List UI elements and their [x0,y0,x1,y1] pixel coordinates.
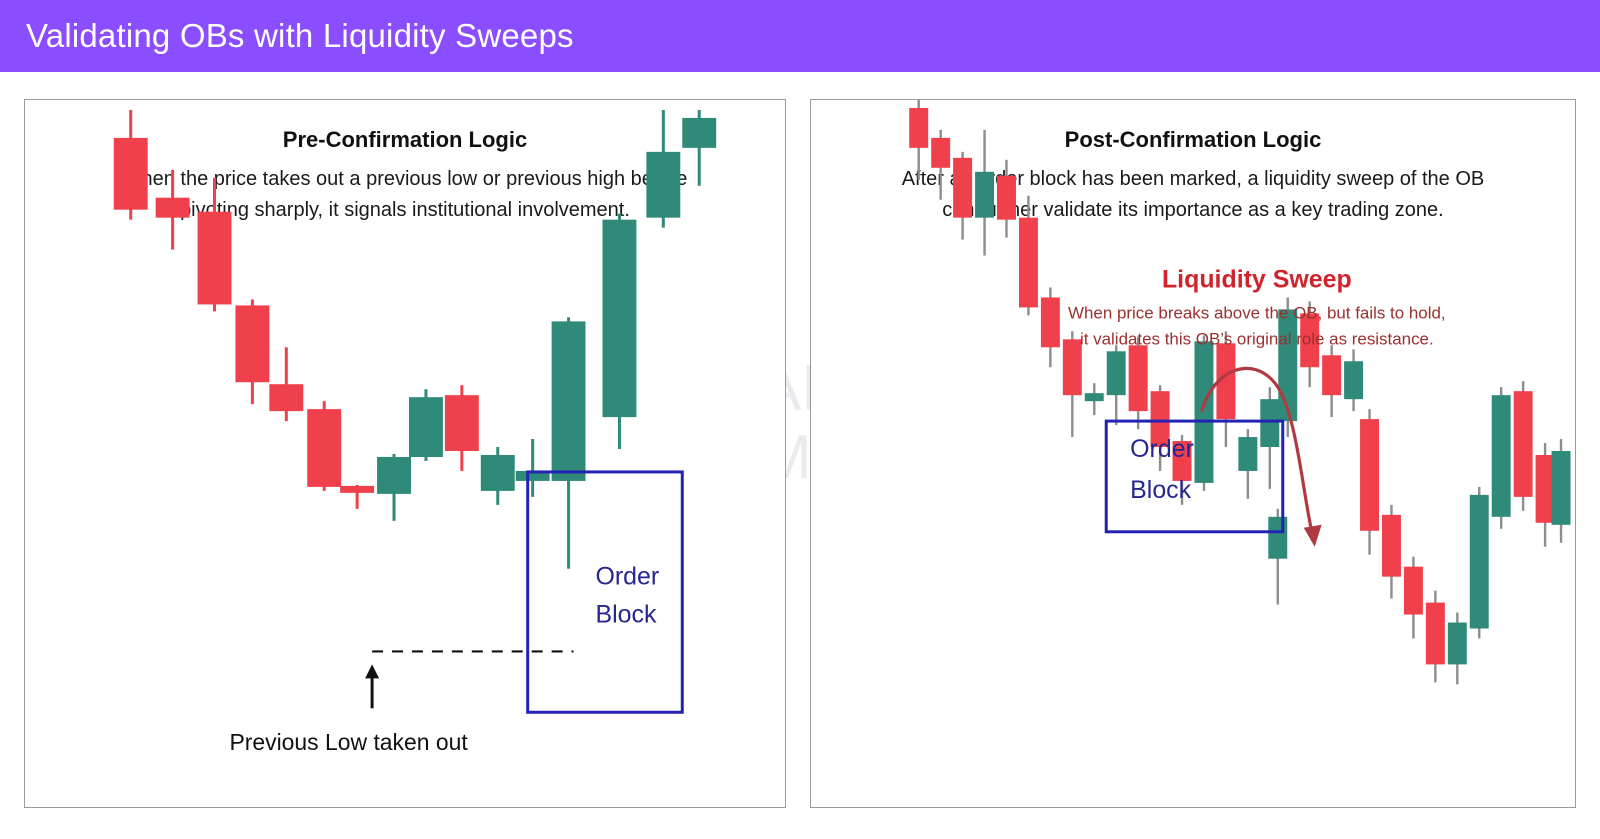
candle-body [269,384,303,411]
candle-body [1041,297,1060,347]
candle-body [1382,515,1401,577]
candle-body [1552,451,1571,525]
liquidity-sweep-body-line2: it validates this OB’s original role as … [1080,329,1434,348]
candle-body [1470,495,1489,629]
panel-post-confirmation: Post-Confirmation Logic After an order b… [810,99,1576,808]
candle-body [1322,355,1341,395]
candle-body [1238,437,1257,471]
candle-body [481,455,515,491]
candle-body [1129,345,1148,411]
candle-body [1260,399,1279,447]
candle-body [1448,623,1467,665]
order-block-right-label-line1: Order [1130,435,1194,463]
candle-body [1278,309,1297,421]
candle-body [1268,517,1287,559]
candle-body [235,305,269,382]
candle-body [997,176,1016,220]
order-block-label-line1: Order [595,563,659,591]
candle-body [602,220,636,417]
candle-body [1404,567,1423,615]
candle-body [198,212,232,305]
candle-series-left [114,110,716,569]
candle-body [552,321,586,481]
candle-body [156,198,190,218]
candle-body [909,108,928,148]
candle-body [1107,351,1126,395]
previous-low-caption: Previous Low taken out [229,729,468,755]
candle-body [445,395,479,451]
candle-wick [531,439,534,497]
liquidity-sweep-title: Liquidity Sweep [1162,265,1352,293]
candle-body [1514,391,1533,497]
candle-body [1085,393,1104,401]
pre-confirmation-candlestick-chart: Order Block Previous Low taken out [25,100,785,807]
page-title: Validating OBs with Liquidity Sweeps [0,17,574,55]
candle-body [1492,395,1511,517]
candle-body [1063,339,1082,395]
candle-body [682,118,716,148]
post-confirmation-candlestick-chart: Liquidity Sweep When price breaks above … [811,100,1575,807]
candle-body [975,172,994,218]
candle-series-right [909,100,1570,684]
candle-body [931,138,950,168]
candle-body [1426,603,1445,665]
candle-body [953,158,972,218]
candle-body [1360,419,1379,531]
candle-body [1019,218,1038,308]
candle-body [409,397,443,457]
candle-body [646,152,680,218]
candle-body [114,138,148,210]
candle-body [307,409,341,487]
order-block-label-line2: Block [595,601,656,629]
candle-body [340,486,374,493]
candle-body [377,457,411,494]
order-block-right-label-line2: Block [1130,476,1191,504]
header-bar: Validating OBs with Liquidity Sweeps [0,0,1600,72]
order-block-rectangle-left [528,472,683,712]
candle-body [1344,361,1363,399]
liquidity-sweep-body-line1: When price breaks above the OB, but fail… [1068,303,1446,322]
previous-low-arrow-icon [365,664,379,708]
candle-body [1194,341,1213,483]
panel-pre-confirmation: Pre-Confirmation Logic When the price ta… [24,99,786,808]
